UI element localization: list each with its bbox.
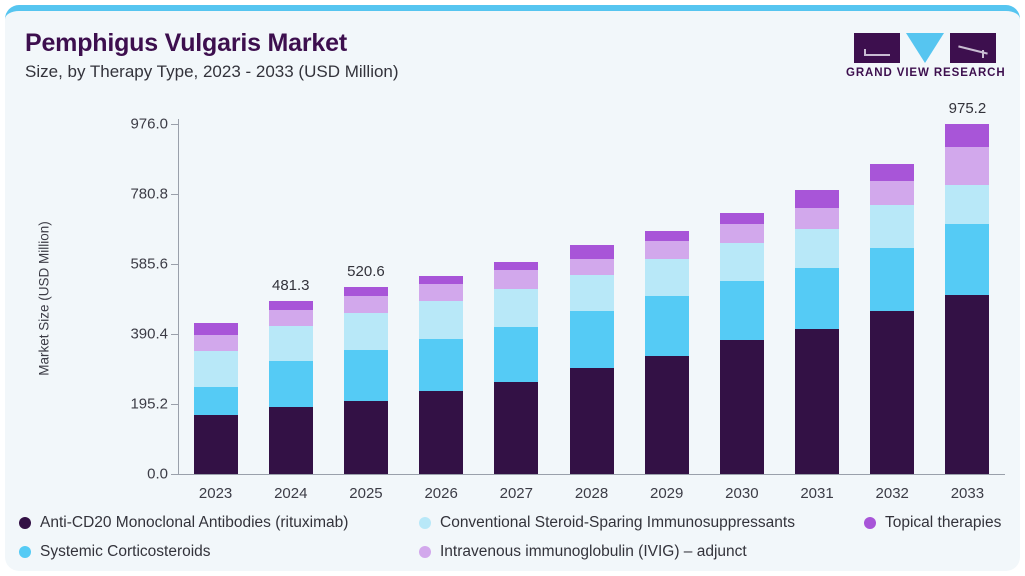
bar-segment[interactable]	[419, 301, 463, 339]
y-axis-title: Market Size (USD Million)	[37, 159, 52, 439]
bar-2024[interactable]	[269, 124, 313, 474]
bar-segment[interactable]	[795, 268, 839, 329]
bar-segment[interactable]	[945, 147, 989, 185]
bar-2030[interactable]	[720, 124, 764, 474]
x-tick-label: 2024	[274, 485, 307, 502]
bar-2023[interactable]	[194, 124, 238, 474]
y-tick-mark	[171, 124, 178, 125]
stacked-bar-chart: Market Size (USD Million) 0.0195.2390.45…	[5, 11, 1020, 571]
bar-segment[interactable]	[269, 310, 313, 326]
bar-segment[interactable]	[194, 351, 238, 387]
bar-segment[interactable]	[570, 368, 614, 474]
bar-segment[interactable]	[645, 241, 689, 259]
bar-segment[interactable]	[344, 401, 388, 474]
x-tick-label: 2029	[650, 485, 683, 502]
bar-segment[interactable]	[645, 296, 689, 356]
bar-segment[interactable]	[194, 415, 238, 474]
bar-segment[interactable]	[570, 259, 614, 275]
legend-item[interactable]: Systemic Corticosteroids	[19, 543, 211, 561]
bar-segment[interactable]	[795, 190, 839, 208]
bar-segment[interactable]	[344, 350, 388, 401]
bar-segment[interactable]	[269, 326, 313, 362]
x-tick-label: 2027	[500, 485, 533, 502]
bar-segment[interactable]	[570, 245, 614, 259]
bar-segment[interactable]	[494, 382, 538, 474]
legend-color-dot-icon	[19, 546, 31, 558]
x-tick-label: 2033	[951, 485, 984, 502]
y-tick-label: 390.4	[98, 326, 168, 343]
x-tick-label: 2025	[349, 485, 382, 502]
x-tick-label: 2026	[424, 485, 457, 502]
x-tick-label: 2032	[876, 485, 909, 502]
bar-segment[interactable]	[795, 229, 839, 268]
bar-2029[interactable]	[645, 124, 689, 474]
y-tick-mark	[171, 334, 178, 335]
bar-2028[interactable]	[570, 124, 614, 474]
bar-segment[interactable]	[194, 323, 238, 335]
y-tick-mark	[171, 264, 178, 265]
legend-color-dot-icon	[864, 517, 876, 529]
y-axis-line	[178, 119, 179, 475]
legend-item[interactable]: Topical therapies	[864, 514, 1001, 532]
bar-value-label: 520.6	[347, 263, 385, 280]
bar-segment[interactable]	[570, 275, 614, 311]
legend-item[interactable]: Intravenous immunoglobulin (IVIG) – adju…	[419, 543, 747, 561]
bar-segment[interactable]	[870, 205, 914, 248]
bar-segment[interactable]	[419, 276, 463, 284]
legend-label: Anti-CD20 Monoclonal Antibodies (rituxim…	[40, 514, 348, 532]
legend-label: Topical therapies	[885, 514, 1001, 532]
legend-color-dot-icon	[19, 517, 31, 529]
legend-label: Systemic Corticosteroids	[40, 543, 211, 561]
bar-segment[interactable]	[870, 181, 914, 205]
y-tick-label: 195.2	[98, 396, 168, 413]
y-tick-label: 0.0	[98, 466, 168, 483]
bar-2026[interactable]	[419, 124, 463, 474]
bar-segment[interactable]	[570, 311, 614, 368]
bar-segment[interactable]	[720, 243, 764, 281]
y-tick-label: 585.6	[98, 256, 168, 273]
bar-segment[interactable]	[720, 340, 764, 474]
bar-segment[interactable]	[645, 356, 689, 474]
bar-2033[interactable]	[945, 124, 989, 474]
y-tick-mark	[171, 194, 178, 195]
bar-segment[interactable]	[419, 284, 463, 302]
x-axis-line	[178, 474, 1005, 475]
bar-value-label: 481.3	[272, 277, 310, 294]
bar-2032[interactable]	[870, 124, 914, 474]
bar-segment[interactable]	[720, 281, 764, 341]
bar-segment[interactable]	[344, 296, 388, 313]
bar-segment[interactable]	[344, 313, 388, 350]
bar-segment[interactable]	[720, 213, 764, 224]
x-tick-label: 2023	[199, 485, 232, 502]
legend-color-dot-icon	[419, 517, 431, 529]
bar-segment[interactable]	[720, 224, 764, 243]
bar-segment[interactable]	[645, 231, 689, 241]
bar-segment[interactable]	[870, 311, 914, 474]
bar-segment[interactable]	[419, 339, 463, 391]
bar-segment[interactable]	[269, 301, 313, 309]
bar-segment[interactable]	[795, 208, 839, 228]
bar-segment[interactable]	[945, 224, 989, 294]
bar-segment[interactable]	[870, 164, 914, 180]
bar-segment[interactable]	[269, 407, 313, 474]
x-tick-label: 2028	[575, 485, 608, 502]
bar-segment[interactable]	[795, 329, 839, 474]
bar-segment[interactable]	[645, 259, 689, 296]
bar-2031[interactable]	[795, 124, 839, 474]
legend-color-dot-icon	[419, 546, 431, 558]
chart-legend: Anti-CD20 Monoclonal Antibodies (rituxim…	[19, 514, 1014, 571]
bar-segment[interactable]	[945, 124, 989, 146]
bar-2025[interactable]	[344, 124, 388, 474]
bar-segment[interactable]	[344, 287, 388, 295]
x-tick-label: 2030	[725, 485, 758, 502]
bar-segment[interactable]	[194, 335, 238, 351]
bar-segment[interactable]	[494, 289, 538, 328]
y-tick-label: 780.8	[98, 186, 168, 203]
legend-label: Intravenous immunoglobulin (IVIG) – adju…	[440, 543, 747, 561]
bar-2027[interactable]	[494, 124, 538, 474]
bar-segment[interactable]	[419, 391, 463, 474]
bar-segment[interactable]	[269, 361, 313, 406]
legend-item[interactable]: Conventional Steroid-Sparing Immunosuppr…	[419, 514, 795, 532]
bar-segment[interactable]	[945, 185, 989, 224]
chart-card: Pemphigus Vulgaris Market Size, by Thera…	[5, 5, 1020, 571]
bar-segment[interactable]	[194, 387, 238, 415]
bar-segment[interactable]	[494, 327, 538, 382]
y-tick-mark	[171, 404, 178, 405]
bar-segment[interactable]	[870, 248, 914, 311]
legend-label: Conventional Steroid-Sparing Immunosuppr…	[440, 514, 795, 532]
x-tick-label: 2031	[800, 485, 833, 502]
bar-segment[interactable]	[494, 270, 538, 289]
legend-item[interactable]: Anti-CD20 Monoclonal Antibodies (rituxim…	[19, 514, 348, 532]
y-tick-mark	[171, 474, 178, 475]
y-tick-label: 976.0	[98, 116, 168, 133]
bar-segment[interactable]	[945, 295, 989, 474]
bar-segment[interactable]	[494, 262, 538, 270]
bar-value-label: 975.2	[949, 100, 987, 117]
